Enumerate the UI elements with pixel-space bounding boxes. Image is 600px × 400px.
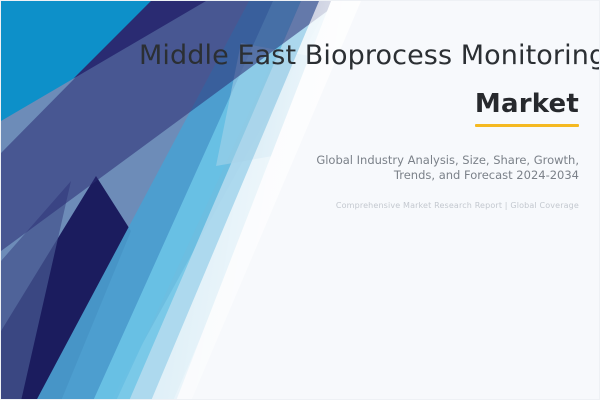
subtitle-line-2: Trends, and Forecast 2024-2034: [249, 168, 579, 183]
accent-underline: [475, 124, 579, 127]
title-block: Middle East Bioprocess Monitoring Market: [139, 39, 579, 127]
emphasis-word: Market: [475, 89, 579, 119]
emphasis-word-wrapper: Market: [475, 89, 579, 127]
cover-text-layer: Middle East Bioprocess Monitoring Market…: [1, 1, 600, 400]
report-cover: Middle East Bioprocess Monitoring Market…: [0, 0, 600, 400]
page-title: Middle East Bioprocess Monitoring: [139, 39, 579, 73]
subtitle-line-1: Global Industry Analysis, Size, Share, G…: [249, 153, 579, 168]
subtitle-block: Global Industry Analysis, Size, Share, G…: [249, 153, 579, 183]
cover-caption: Comprehensive Market Research Report | G…: [219, 200, 579, 212]
